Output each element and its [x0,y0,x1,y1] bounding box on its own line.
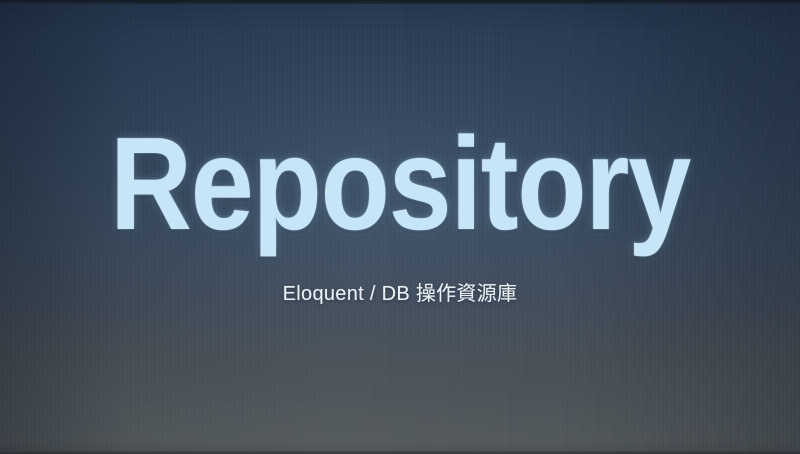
slide-subtitle: Eloquent / DB 操作資源庫 [0,281,800,307]
slide-content: Repository Eloquent / DB 操作資源庫 [0,0,800,454]
presentation-slide: Repository Eloquent / DB 操作資源庫 [0,0,800,454]
slide-title: Repository [56,118,744,250]
